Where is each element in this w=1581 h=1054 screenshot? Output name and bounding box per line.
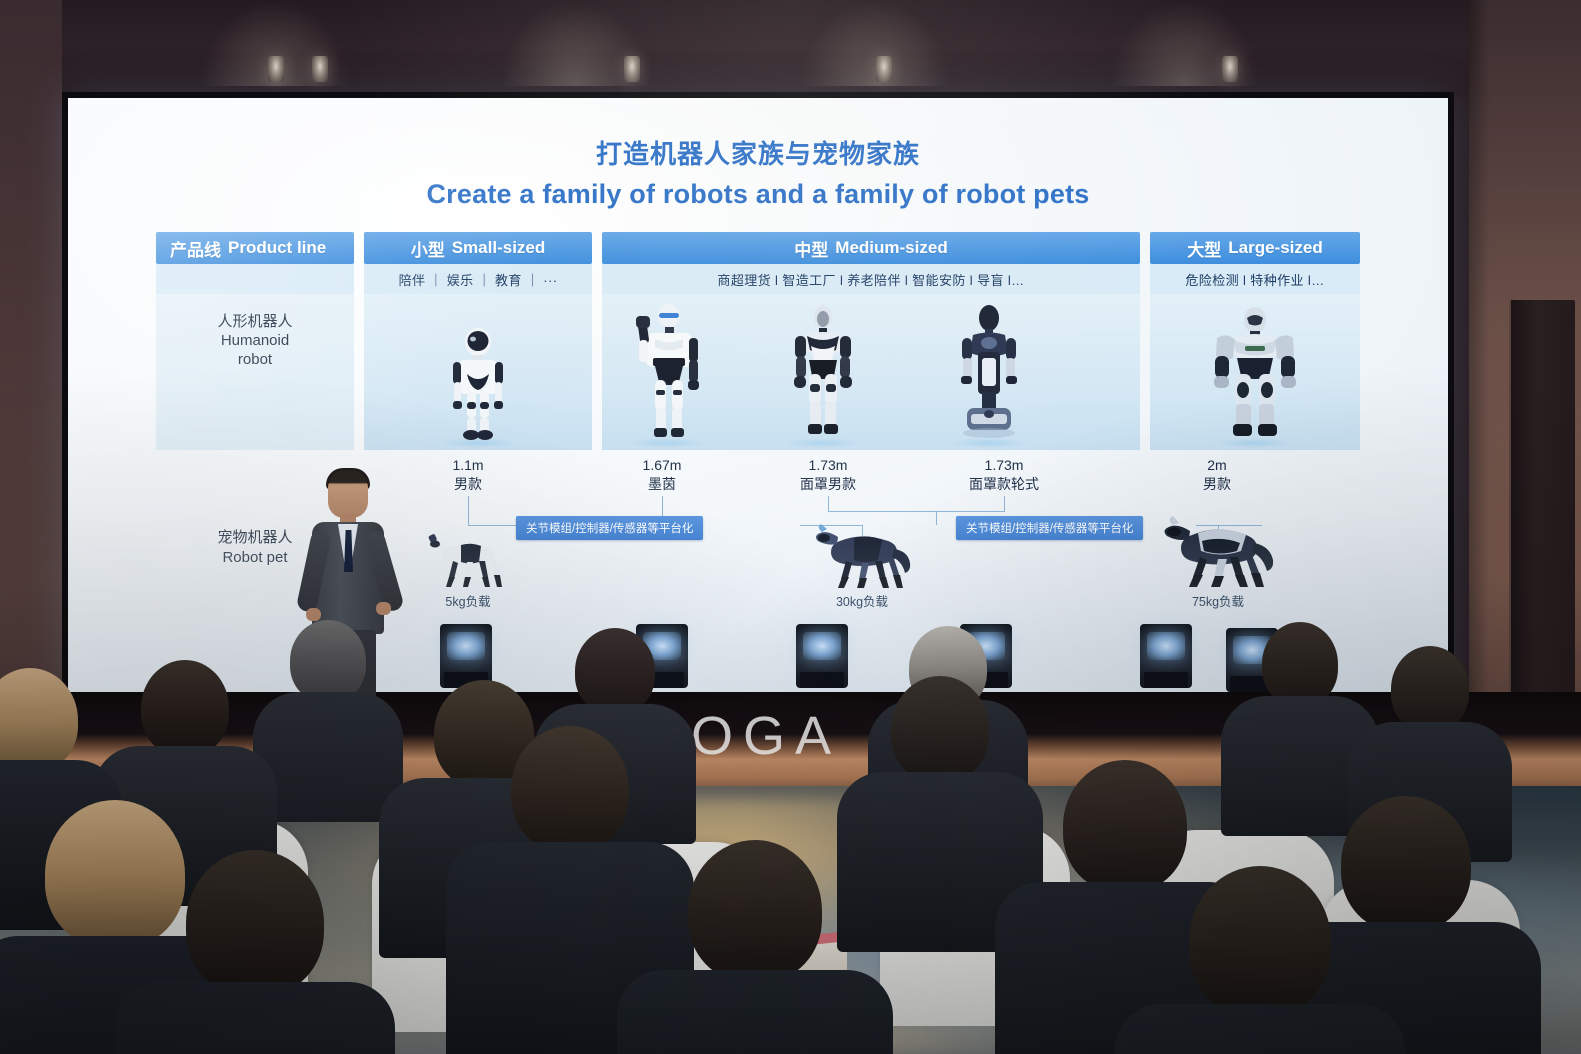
audience-shoulders xyxy=(1115,1004,1405,1054)
audience-member xyxy=(870,676,1010,916)
row-label-humanoid: 人形机器人 Humanoid robot xyxy=(156,312,354,370)
tags-small: 陪伴 ｜ 娱乐 ｜ 教育 ｜ ··· xyxy=(364,264,592,294)
measure-height: 1.73m xyxy=(800,456,856,475)
ceiling-light xyxy=(1222,56,1238,82)
audience-member xyxy=(1240,622,1360,812)
measure-height: 1.67m xyxy=(643,456,682,475)
column-header-medium-en: Medium-sized xyxy=(835,238,947,258)
pet-payload-label: 30kg负载 xyxy=(836,591,888,610)
tags-large: 危险检测 l 特种作业 l… xyxy=(1150,264,1360,294)
pet-payload-label: 75kg负载 xyxy=(1192,591,1244,610)
robot-image-large-male xyxy=(1207,302,1303,444)
robot-image-small-male xyxy=(443,326,513,444)
humanoid-robot-icon xyxy=(443,326,513,444)
column-header-large-cn: 大型 xyxy=(1187,236,1221,261)
robot-image-medium-moyin xyxy=(625,302,709,444)
audience-head xyxy=(688,840,822,982)
audience-shoulders xyxy=(115,982,395,1054)
audience-head xyxy=(1189,866,1331,1016)
column-header-small: 小型 Small-sized xyxy=(364,232,592,264)
column-header-medium: 中型 Medium-sized xyxy=(602,232,1140,264)
measure-large-male: 2m 男款 xyxy=(1203,456,1231,494)
row-label-humanoid-en2: robot xyxy=(156,350,354,369)
presentation-slide: 打造机器人家族与宠物家族 Create a family of robots a… xyxy=(68,98,1448,692)
audience-shoulders xyxy=(617,970,893,1054)
measure-variant: 面罩男款 xyxy=(800,475,856,494)
measure-medium-moyin: 1.67m 墨茵 xyxy=(643,456,682,494)
tags-medium: 商超理货 l 智造工厂 l 养老陪伴 l 智能安防 l 导盲 l… xyxy=(602,264,1140,294)
side-door xyxy=(1509,300,1575,720)
measure-variant: 男款 xyxy=(452,475,483,494)
measure-variant: 墨茵 xyxy=(643,475,682,494)
ceiling-light xyxy=(624,56,640,82)
projection-screen-frame: 打造机器人家族与宠物家族 Create a family of robots a… xyxy=(62,92,1454,698)
stage-light xyxy=(1140,624,1192,688)
ceiling-light xyxy=(312,56,328,82)
audience-head xyxy=(141,660,229,756)
measure-medium-wheeled: 1.73m 面罩款轮式 xyxy=(969,456,1039,494)
humanoid-robot-row: 人形机器人 Humanoid robot xyxy=(156,294,1360,450)
column-header-product-line-cn: 产品线 xyxy=(170,236,221,261)
slide-title-chinese: 打造机器人家族与宠物家族 xyxy=(156,134,1360,171)
robot-dog-icon xyxy=(419,527,517,589)
audience-head xyxy=(290,620,366,702)
column-header-small-en: Small-sized xyxy=(452,238,546,258)
measure-variant: 男款 xyxy=(1203,475,1231,494)
audience-head xyxy=(1262,622,1338,706)
audience-head xyxy=(575,628,655,714)
robot-pet-small: 5kg负载 xyxy=(419,527,517,610)
pet-payload-label: 5kg负载 xyxy=(445,591,490,610)
stage-light xyxy=(440,624,492,688)
audience-member xyxy=(160,850,350,1054)
platform-pill-right: 关节模组/控制器/传感器等平台化 xyxy=(956,516,1143,540)
measure-height: 1.73m xyxy=(969,456,1039,475)
audience-head xyxy=(891,676,989,782)
humanoid-robot-icon xyxy=(1207,302,1303,444)
presenter-hand-right xyxy=(376,602,391,615)
stage-light xyxy=(796,624,848,688)
column-header-large-en: Large-sized xyxy=(1228,238,1322,258)
ceiling-light xyxy=(268,56,284,82)
column-header-large: 大型 Large-sized xyxy=(1150,232,1360,264)
robot-dog-icon xyxy=(806,519,918,589)
slide-title-english: Create a family of robots and a family o… xyxy=(156,179,1360,210)
measure-height: 1.1m xyxy=(452,456,483,475)
tags-product-line xyxy=(156,264,354,294)
column-header-product-line-en: Product line xyxy=(228,238,326,258)
row-label-cell-humanoid: 人形机器人 Humanoid robot xyxy=(156,294,354,450)
audience-member xyxy=(490,726,650,1026)
platform-pill-left: 关节模组/控制器/传感器等平台化 xyxy=(516,516,703,540)
measure-variant: 面罩款轮式 xyxy=(969,475,1039,494)
audience-head xyxy=(1341,796,1471,932)
robot-pet-medium: 30kg负载 xyxy=(806,519,918,610)
measure-medium-masked: 1.73m 面罩男款 xyxy=(800,456,856,494)
humanoid-robot-wheeled-icon xyxy=(947,302,1031,444)
column-header-small-cn: 小型 xyxy=(411,236,445,261)
audience-head xyxy=(0,668,78,772)
column-header-medium-cn: 中型 xyxy=(794,236,828,261)
application-tag-row: 陪伴 ｜ 娱乐 ｜ 教育 ｜ ··· 商超理货 l 智造工厂 l 养老陪伴 l … xyxy=(156,264,1360,294)
projection-screen: 打造机器人家族与宠物家族 Create a family of robots a… xyxy=(68,98,1448,692)
cell-small-humanoid xyxy=(364,294,592,450)
cell-large-humanoid xyxy=(1150,294,1360,450)
robot-pet-large: 75kg负载 xyxy=(1158,511,1278,610)
presenter-head xyxy=(328,470,368,518)
humanoid-robot-icon xyxy=(625,302,709,444)
column-header-row: 产品线 Product line 小型 Small-sized 中型 Mediu… xyxy=(156,232,1360,264)
robot-image-medium-masked xyxy=(781,302,865,444)
ceiling-glow xyxy=(800,0,950,86)
conference-room: 打造机器人家族与宠物家族 Create a family of robots a… xyxy=(0,0,1581,1054)
measure-small-male: 1.1m 男款 xyxy=(452,456,483,494)
audience-member xyxy=(268,620,388,800)
row-label-humanoid-en1: Humanoid xyxy=(156,331,354,350)
audience-head xyxy=(511,726,629,852)
audience-head xyxy=(186,850,324,996)
audience-head xyxy=(1391,646,1469,732)
column-header-product-line: 产品线 Product line xyxy=(156,232,354,264)
audience-member xyxy=(1160,866,1360,1054)
robot-image-medium-wheeled xyxy=(947,302,1031,444)
measure-height: 2m xyxy=(1203,456,1231,475)
cell-medium-humanoid xyxy=(602,294,1140,450)
robot-panther-icon xyxy=(1158,511,1278,589)
humanoid-robot-icon xyxy=(781,302,865,444)
row-label-humanoid-cn: 人形机器人 xyxy=(156,312,354,331)
ceiling-light xyxy=(876,56,892,82)
audience-member xyxy=(660,840,850,1054)
